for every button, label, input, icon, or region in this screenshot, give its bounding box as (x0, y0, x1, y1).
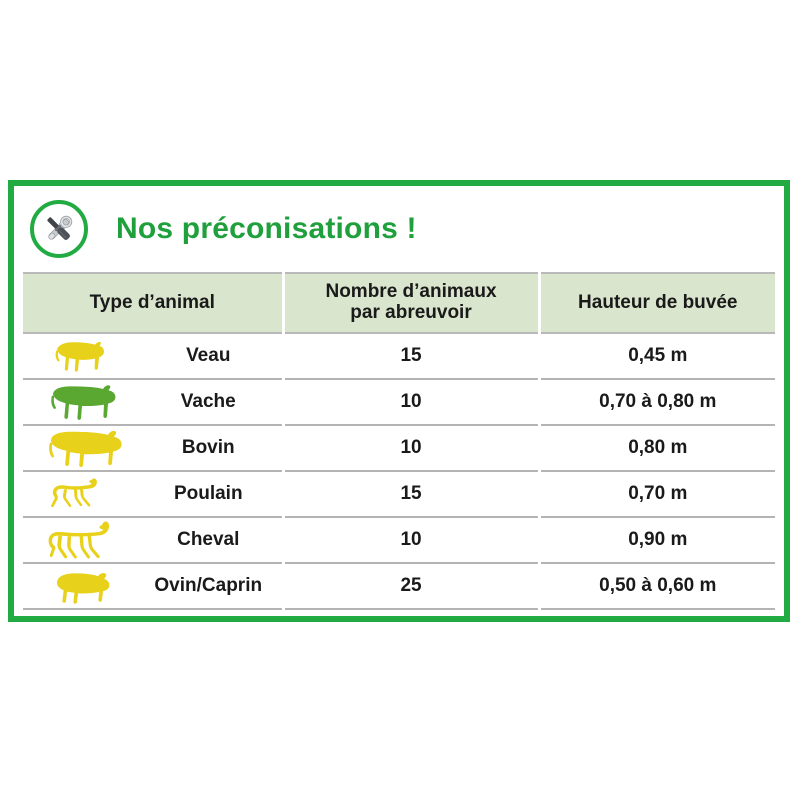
animal-count: 10 (283, 517, 539, 563)
animal-name: Poulain (135, 471, 283, 517)
table-row: Bovin 10 0,80 m (23, 425, 775, 471)
table-row: Vache 10 0,70 à 0,80 m (23, 379, 775, 425)
screenshot-canvas: Nos préconisations ! Type d’animal Nombr… (0, 0, 800, 800)
table-row: Ovin/Caprin 25 0,50 à 0,60 m (23, 563, 775, 609)
drinking-height: 0,70 m (539, 471, 775, 517)
column-header-height: Hauteur de buvée (539, 273, 775, 333)
table-row: Poulain 15 0,70 m (23, 471, 775, 517)
animal-name: Veau (135, 333, 283, 379)
horse-icon (23, 517, 135, 563)
drinking-height: 0,70 à 0,80 m (539, 379, 775, 425)
preconisations-card: Nos préconisations ! Type d’animal Nombr… (8, 180, 790, 622)
card-header: Nos préconisations ! (14, 186, 784, 272)
tools-icon (30, 200, 88, 258)
recommendations-table: Type d’animal Nombre d’animaux par abreu… (23, 272, 775, 610)
animal-name: Bovin (135, 425, 283, 471)
calf-icon (23, 333, 135, 379)
table-body: Veau 15 0,45 m Vache 10 0,70 à 0,80 m (23, 333, 775, 609)
foal-icon (23, 471, 135, 517)
drinking-height: 0,80 m (539, 425, 775, 471)
animal-count: 15 (283, 471, 539, 517)
animal-count: 10 (283, 379, 539, 425)
column-header-count-line2: par abreuvoir (350, 302, 471, 323)
animal-count: 10 (283, 425, 539, 471)
table-row: Veau 15 0,45 m (23, 333, 775, 379)
drinking-height: 0,50 à 0,60 m (539, 563, 775, 609)
column-header-count-line1: Nombre d’animaux (325, 281, 496, 302)
table-header-row: Type d’animal Nombre d’animaux par abreu… (23, 273, 775, 333)
drinking-height: 0,45 m (539, 333, 775, 379)
animal-count: 15 (283, 333, 539, 379)
column-header-type: Type d’animal (23, 273, 283, 333)
animal-name: Ovin/Caprin (135, 563, 283, 609)
drinking-height: 0,90 m (539, 517, 775, 563)
animal-name: Vache (135, 379, 283, 425)
table-header: Type d’animal Nombre d’animaux par abreu… (23, 273, 775, 333)
bovine-icon (23, 425, 135, 471)
sheep-icon (23, 563, 135, 609)
cow-icon (23, 379, 135, 425)
table-row: Cheval 10 0,90 m (23, 517, 775, 563)
page-title: Nos préconisations ! (116, 212, 417, 246)
column-header-count: Nombre d’animaux par abreuvoir (283, 273, 539, 333)
animal-count: 25 (283, 563, 539, 609)
animal-name: Cheval (135, 517, 283, 563)
